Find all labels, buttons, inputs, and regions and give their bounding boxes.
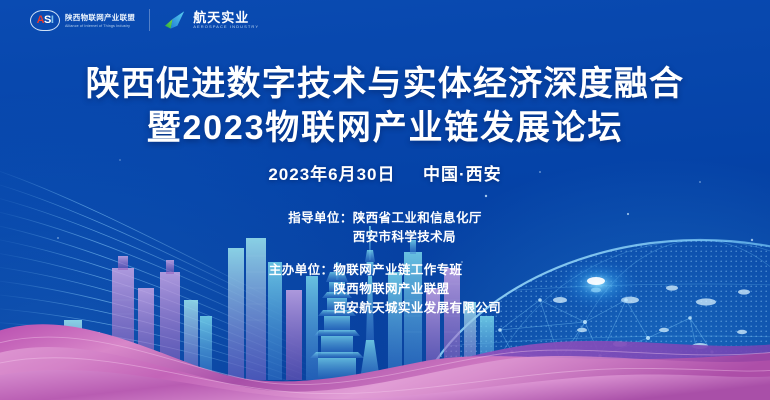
guidance-unit-item: 西安市科学技术局 (353, 228, 482, 247)
alliance-logo: ASI 陕西物联网产业联盟 Alliance of Internet of Th… (30, 10, 135, 31)
organizer-units: 指导单位： 陕西省工业和信息化厅 西安市科学技术局 主办单位： 物联网产业链工作… (0, 209, 770, 332)
host-units-label: 主办单位： (269, 261, 334, 280)
event-location: 中国·西安 (423, 165, 502, 184)
asi-letter-s: S (44, 14, 51, 26)
banner-content: 陕西促进数字技术与实体经济深度融合 暨2023物联网产业链发展论坛 2023年6… (0, 0, 770, 400)
logo-divider (149, 9, 150, 31)
event-date: 2023年6月30日 (268, 165, 395, 184)
host-unit-item: 西安航天城实业发展有限公司 (333, 299, 501, 318)
logo-bar: ASI 陕西物联网产业联盟 Alliance of Internet of Th… (30, 9, 259, 31)
forum-title-line1: 陕西促进数字技术与实体经济深度融合 (0, 62, 770, 106)
host-unit-item: 物联网产业链工作专班 (333, 261, 501, 280)
alliance-name-cn: 陕西物联网产业联盟 (65, 12, 135, 23)
forum-title-line2: 暨2023物联网产业链发展论坛 (0, 106, 770, 150)
guidance-units-row: 指导单位： 陕西省工业和信息化厅 西安市科学技术局 (0, 209, 770, 247)
aerospace-name-cn: 航天实业 (193, 11, 259, 24)
guidance-units-label: 指导单位： (288, 209, 353, 228)
event-date-location: 2023年6月30日 中国·西安 (0, 160, 770, 185)
guidance-unit-item: 陕西省工业和信息化厅 (353, 209, 482, 228)
asi-monogram-icon: ASI (30, 10, 60, 31)
host-unit-item: 陕西物联网产业联盟 (333, 280, 501, 299)
aerospace-logo: 航天实业 AEROSPACE INDUSTRY (164, 10, 259, 30)
forum-banner: ASI 陕西物联网产业联盟 Alliance of Internet of Th… (0, 0, 770, 400)
asi-letter-a: A (37, 14, 44, 26)
host-units-row: 主办单位： 物联网产业链工作专班 陕西物联网产业联盟 西安航天城实业发展有限公司 (0, 261, 770, 318)
aerospace-name-en: AEROSPACE INDUSTRY (193, 25, 259, 29)
asi-letter-i: I (51, 14, 54, 26)
forum-title: 陕西促进数字技术与实体经济深度融合 暨2023物联网产业链发展论坛 (0, 62, 770, 150)
aerospace-swoosh-icon (164, 10, 187, 30)
alliance-name-en: Alliance of Internet of Things Industry (65, 24, 135, 28)
